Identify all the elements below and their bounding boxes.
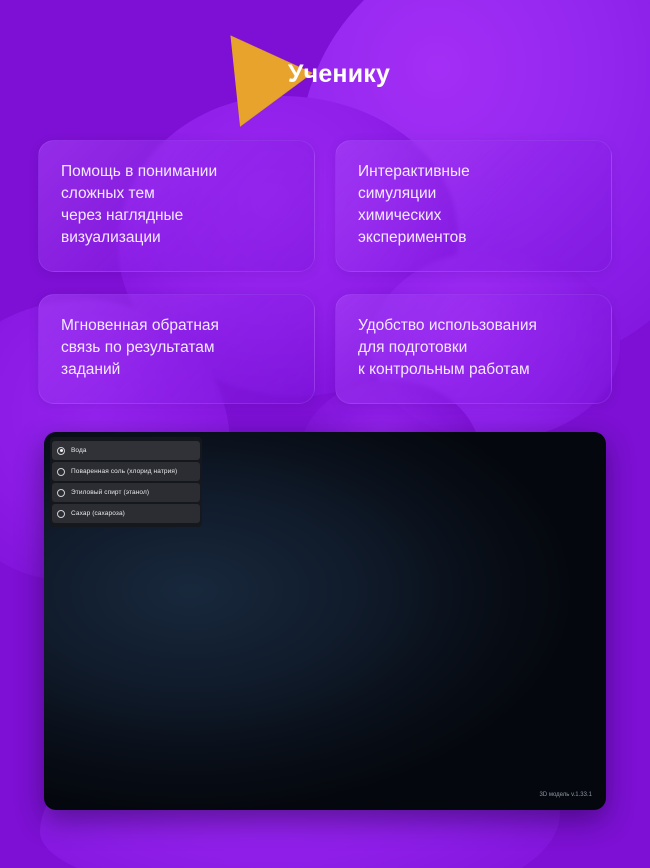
radio-unselected-icon — [57, 489, 65, 497]
feature-card-list: Помощь в понимании сложных тем через наг… — [38, 140, 612, 404]
simulation-window[interactable]: Вода Поваренная соль (хлорид натрия) Эти… — [44, 432, 606, 810]
radio-unselected-icon — [57, 468, 65, 476]
radio-item-sugar[interactable]: Сахар (сахароза) — [52, 504, 200, 523]
radio-item-ethanol[interactable]: Этиловый спирт (этанол) — [52, 483, 200, 502]
page-header: Ученику — [0, 34, 650, 120]
page-title: Ученику — [0, 60, 650, 89]
radio-selected-icon — [57, 447, 65, 455]
feature-card: Помощь в понимании сложных тем через наг… — [38, 140, 315, 272]
version-label: 3D модель v.1.33.1 — [539, 792, 592, 798]
feature-card: Интерактивные симуляции химических экспе… — [335, 140, 612, 272]
radio-label: Сахар (сахароза) — [71, 510, 125, 517]
radio-label: Вода — [71, 447, 87, 454]
radio-label: Этиловый спирт (этанол) — [71, 489, 149, 496]
radio-item-salt[interactable]: Поваренная соль (хлорид натрия) — [52, 462, 200, 481]
radio-unselected-icon — [57, 510, 65, 518]
feature-card: Удобство использования для подготовки к … — [335, 294, 612, 404]
feature-card: Мгновенная обратная связь по результатам… — [38, 294, 315, 404]
radio-label: Поваренная соль (хлорид натрия) — [71, 468, 177, 475]
substance-radio-list[interactable]: Вода Поваренная соль (хлорид натрия) Эти… — [50, 437, 202, 527]
radio-item-water[interactable]: Вода — [52, 441, 200, 460]
